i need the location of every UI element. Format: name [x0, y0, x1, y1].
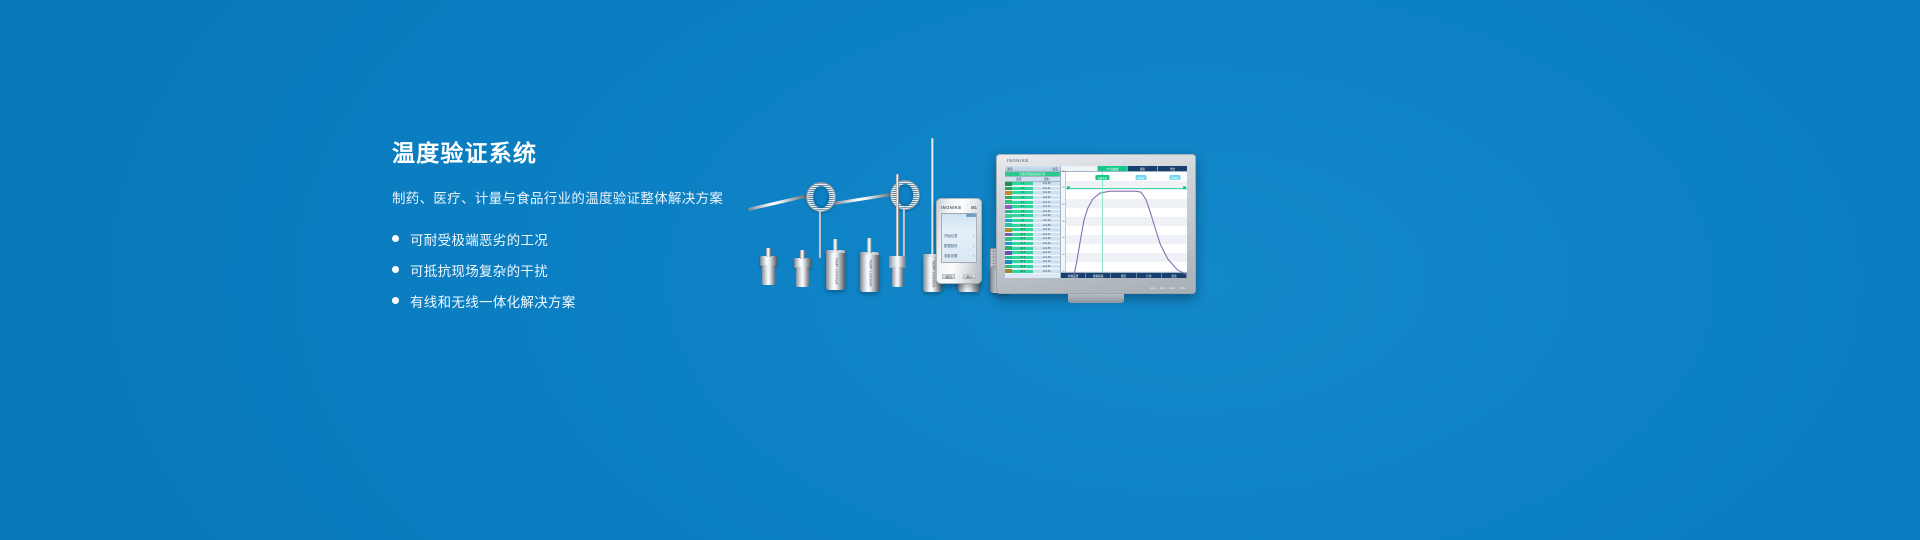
channel-value-cell: 121.28 [1033, 191, 1060, 194]
monitor-stand [1068, 294, 1124, 303]
reader-brand-label: INONIKE [941, 205, 962, 210]
channel-id-cell: 12 # [1012, 233, 1033, 236]
channel-id-cell: 3 # [1012, 191, 1033, 194]
channel-color-swatch [1005, 246, 1012, 250]
reader-menu-label: 开始记录 [944, 233, 958, 238]
table-row[interactable]: 20 #121.40 [1005, 269, 1060, 274]
probe-stem [903, 208, 905, 258]
channel-color-swatch [1005, 269, 1012, 273]
channel-id-cell: 8 # [1012, 214, 1033, 217]
channel-color-swatch [1005, 223, 1012, 227]
chart-marker-label[interactable]: 灭菌开始 [1096, 175, 1109, 180]
channel-value-cell: 121.19 [1033, 260, 1060, 263]
channel-value-cell: 121.26 [1033, 242, 1060, 245]
column-header-reading: 读数 [1033, 177, 1061, 181]
monitor-menu-button[interactable] [1149, 287, 1156, 290]
logger-label: TEMP LOGGER [867, 259, 872, 286]
probe-stem [819, 210, 821, 258]
reader-menu-item[interactable]: 参数设置 › [944, 253, 974, 258]
tab-f0-curve[interactable]: F0 值曲线 [1097, 166, 1127, 171]
channel-value-cell: 121.55 [1033, 224, 1060, 227]
channel-value-cell: 121.40 [1033, 270, 1060, 273]
data-logger-body: TEMP LOGGER [860, 252, 879, 292]
channel-id-cell: 19 # [1012, 265, 1033, 268]
channel-color-swatch [1005, 196, 1012, 200]
reader-status-bar [966, 214, 976, 217]
channel-value-cell: 121.17 [1033, 201, 1060, 204]
temperature-limit-line[interactable] [1066, 188, 1187, 189]
channel-color-swatch [1005, 219, 1012, 223]
bullet-dot-icon [392, 266, 399, 273]
logger-label: TEMP LOGGER [833, 257, 838, 284]
chart-panel: F0 值曲线 报表 导出 14012010080604020 灭菌开始保温段降温… [1061, 166, 1187, 278]
product-photo-group: TEMP LOGGER TEMP LOGGER TEMP LOGGER TEMP… [700, 110, 1260, 330]
channel-color-swatch [1005, 251, 1012, 255]
chevron-right-icon: › [973, 244, 974, 248]
monitor-up-button[interactable] [1169, 287, 1176, 290]
tab-export[interactable]: 导出 [1157, 166, 1187, 171]
table-header-left: 通道 [1007, 167, 1013, 171]
flange-sensor-neck [800, 250, 805, 259]
hero-banner: 温度验证系统 制药、医疗、计量与食品行业的温度验证整体解决方案 可耐受极端恶劣的… [0, 0, 1920, 540]
channel-value-cell: 121.22 [1033, 219, 1060, 222]
flange-sensor-neck [766, 248, 771, 257]
probe-cable [834, 192, 896, 204]
monitor-brand-label: INONIKE [1007, 158, 1029, 163]
chart-marker-label[interactable]: 降温段 [1169, 175, 1180, 180]
channel-value-cell: 121.49 [1033, 214, 1060, 217]
monitor-power-button[interactable] [1179, 287, 1186, 290]
channel-id-cell: 11 # [1012, 228, 1033, 231]
channel-value-cell: 121.36 [1033, 210, 1060, 213]
channel-color-swatch [1005, 187, 1012, 191]
logger-stem [867, 238, 872, 253]
channel-color-swatch [1005, 256, 1012, 260]
channel-value-cell: 121.52 [1033, 196, 1060, 199]
probe-cable [748, 194, 809, 210]
needle-probe [931, 138, 934, 256]
channel-value-cell: 121.39 [1033, 237, 1060, 240]
channel-id-cell: 1 # [1012, 182, 1033, 185]
validation-software-screen: 通道 温度 灭菌过程温度验证记录 通道 读数 1 #121.352 #121.4… [1005, 166, 1187, 278]
channel-id-cell: 17 # [1012, 256, 1033, 259]
channel-value-cell: 121.47 [1033, 233, 1060, 236]
channel-value-cell: 121.58 [1033, 247, 1060, 250]
data-logger-body: TEMP LOGGER [826, 250, 845, 290]
channel-id-cell: 18 # [1012, 260, 1033, 263]
monitor-control-buttons[interactable] [1149, 287, 1186, 290]
channel-value-cell: 121.44 [1033, 205, 1060, 208]
chevron-right-icon: › [973, 254, 974, 258]
channel-color-swatch [1005, 210, 1012, 214]
reader-screen: 开始记录 › 数据回传 › 参数设置 › [941, 213, 977, 263]
reader-menu-item[interactable]: 数据回传 › [944, 243, 974, 248]
channel-id-cell: 5 # [1012, 201, 1033, 204]
channel-color-swatch [1005, 205, 1012, 209]
temperature-curve-line [1066, 191, 1187, 278]
channel-id-cell: 9 # [1012, 219, 1033, 222]
flange-sensor-body [762, 265, 775, 285]
channel-id-cell: 20 # [1012, 270, 1033, 273]
reader-model-label: M1 [971, 205, 977, 210]
channel-value-cell: 121.51 [1033, 265, 1060, 268]
reader-menu-item[interactable]: 开始记录 › [944, 233, 974, 238]
bullet-dot-icon [392, 297, 399, 304]
channel-color-swatch [1005, 260, 1012, 264]
temperature-curve-plot: 14012010080604020 灭菌开始保温段降温段 [1061, 172, 1187, 272]
channel-color-swatch [1005, 233, 1012, 237]
channel-table: 通道 温度 灭菌过程温度验证记录 通道 读数 1 #121.352 #121.4… [1005, 166, 1061, 278]
table-body[interactable]: 1 #121.352 #121.413 #121.284 #121.525 #1… [1005, 182, 1060, 278]
tab-report[interactable]: 报表 [1127, 166, 1157, 171]
needle-probe-body [892, 267, 903, 287]
channel-id-cell: 2 # [1012, 187, 1033, 190]
channel-id-cell: 15 # [1012, 247, 1033, 250]
chart-marker-label[interactable]: 保温段 [1136, 175, 1147, 180]
channel-id-cell: 4 # [1012, 196, 1033, 199]
cable-coil-icon [890, 180, 920, 210]
channel-color-swatch [1005, 237, 1012, 241]
chart-cursor-line[interactable] [1102, 172, 1103, 272]
channel-color-swatch [1005, 182, 1012, 186]
channel-color-swatch [1005, 214, 1012, 218]
feature-label: 有线和无线一体化解决方案 [410, 291, 576, 311]
channel-color-swatch [1005, 228, 1012, 232]
channel-id-cell: 7 # [1012, 210, 1033, 213]
logger-label: TEMP LOGGER [930, 260, 935, 287]
handheld-reader-device[interactable]: INONIKE M1 开始记录 › 数据回传 › 参数设置 › 返回 [936, 198, 982, 284]
channel-color-swatch [1005, 200, 1012, 204]
reader-menu-label: 数据回传 [944, 243, 958, 248]
channel-value-cell: 121.33 [1033, 251, 1060, 254]
tab-spacer [1061, 166, 1097, 171]
monitor-down-button[interactable] [1159, 287, 1166, 290]
reader-back-button[interactable]: 返回 [942, 274, 955, 279]
channel-id-cell: 6 # [1012, 205, 1033, 208]
flange-sensor-body [796, 267, 809, 287]
channel-value-cell: 121.45 [1033, 256, 1060, 259]
chevron-right-icon: › [973, 234, 974, 238]
channel-id-cell: 10 # [1012, 224, 1033, 227]
logger-stem [833, 239, 838, 251]
reader-button-row: 返回 确认 [942, 274, 976, 279]
channel-value-cell: 121.31 [1033, 228, 1060, 231]
needle-probe [896, 174, 899, 258]
reader-confirm-button[interactable]: 确认 [963, 274, 976, 279]
channel-id-cell: 16 # [1012, 251, 1033, 254]
bullet-dot-icon [392, 235, 399, 242]
industrial-monitor: INONIKE 通道 温度 灭菌过程温度验证记录 通道 读数 1 #121.35… [996, 154, 1196, 294]
channel-id-cell: 14 # [1012, 242, 1033, 245]
channel-value-cell: 121.41 [1033, 187, 1060, 190]
feature-label: 可抵抗现场复杂的干扰 [410, 260, 548, 280]
column-header-channel: 通道 [1005, 177, 1033, 181]
cable-coil-icon [806, 182, 836, 212]
channel-id-cell: 13 # [1012, 237, 1033, 240]
channel-color-swatch [1005, 191, 1012, 195]
reader-menu-label: 参数设置 [944, 253, 958, 258]
channel-color-swatch [1005, 265, 1012, 269]
feature-label: 可耐受极端恶劣的工况 [410, 229, 548, 249]
table-header-right: 温度 [1052, 167, 1058, 171]
channel-value-cell: 121.35 [1033, 182, 1060, 185]
channel-color-swatch [1005, 242, 1012, 246]
